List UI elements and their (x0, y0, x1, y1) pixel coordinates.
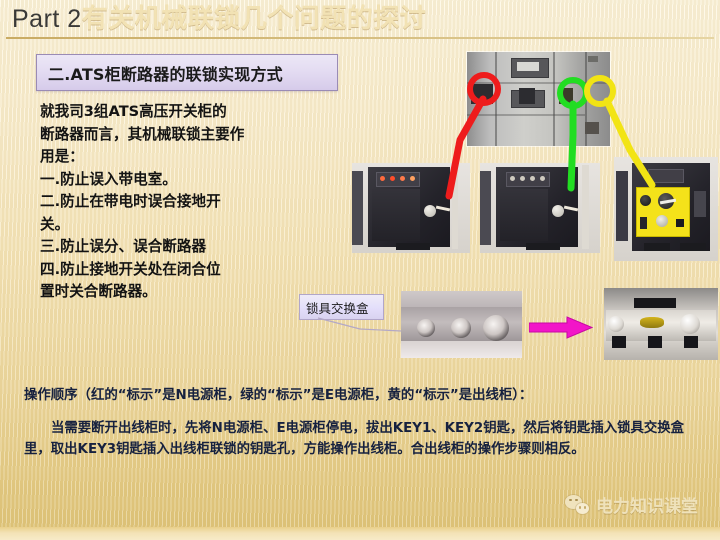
breaker-photo-n-supply (352, 163, 470, 253)
part-title-en: Part 2 (12, 5, 82, 33)
footer-brand: 电力知识课堂 (565, 492, 698, 516)
cabinet-seam-2 (553, 52, 555, 146)
lockbox-keyhole-2 (451, 318, 471, 338)
breaker3-keyhole (656, 215, 668, 227)
breaker2-led-4 (540, 176, 545, 181)
magenta-arrow-icon (529, 316, 593, 339)
lockbox-keyhole-3 (483, 315, 509, 341)
wechat-icon (565, 495, 589, 514)
panel3-lock-1 (608, 316, 624, 332)
cabinet-breaker-left (471, 84, 493, 104)
section-heading-box: 二.ATS柜断路器的联锁实现方式 (36, 54, 338, 91)
breaker1-nameplate (396, 243, 430, 250)
lock-exchange-box-label-text: 锁具交换盒 (306, 298, 369, 317)
body-item-1: 一.防止误入带电室。 (40, 169, 320, 192)
breaker2-key-lock (552, 205, 564, 217)
panel3-inserted-key (640, 317, 664, 328)
switchgear-cabinet-photo (467, 52, 610, 146)
cabinet-lower-tag (585, 122, 599, 134)
cabinet-top-tag (588, 56, 598, 62)
breaker3-marker (676, 219, 684, 227)
panel3-title-tag (634, 298, 676, 308)
body-item-2-line-1: 二.防止在带电时误合接地开 (40, 191, 320, 214)
breaker3-terminal (640, 217, 647, 229)
breaker2-led-2 (520, 176, 525, 181)
operation-notes: 操作顺序（红的“标示”是N电源柜，绿的“标示”是E电源柜，黄的“标示”是出线柜）… (24, 385, 696, 460)
lock-exchange-box-photo (401, 291, 522, 358)
part-title-cn: 有关机械联锁几个问题的探讨 (82, 4, 427, 34)
section-heading-text: 二.ATS柜断路器的联锁实现方式 (48, 61, 283, 85)
breaker2-frame-right (582, 165, 589, 249)
notes-line-1: 操作顺序（红的“标示”是N电源柜，绿的“标示”是E电源柜，黄的“标示”是出线柜）… (24, 385, 696, 406)
slide-canvas: Part 2有关机械联锁几个问题的探讨 二.ATS柜断路器的联锁实现方式 就我司… (0, 0, 720, 540)
page-title: Part 2有关机械联锁几个问题的探讨 (12, 2, 712, 36)
breaker3-indicator-strip (648, 169, 684, 183)
panel3-label-3 (684, 336, 698, 348)
breaker1-door (372, 189, 420, 241)
cabinet-hline-2 (467, 114, 585, 116)
breaker3-side-block (694, 191, 706, 217)
breaker1-led-4 (410, 176, 415, 181)
breaker-photo-outgoing-line (614, 157, 718, 261)
breaker2-led-3 (530, 176, 535, 181)
body-item-4-line-2: 置时关合断路器。 (40, 281, 320, 304)
cabinet-seam-1 (495, 52, 497, 146)
breaker2-nameplate (526, 243, 560, 250)
breaker2-led-1 (510, 176, 515, 181)
lock-exchange-box-label: 锁具交换盒 (299, 294, 384, 320)
breaker-photo-e-supply (480, 163, 600, 253)
body-paragraph-block: 就我司3组ATS高压开关柜的 断路器而言，其机械联锁主要作 用是： 一.防止误入… (40, 101, 320, 304)
body-line-1: 就我司3组ATS高压开关柜的 (40, 101, 320, 124)
panel3-label-2 (648, 336, 662, 348)
breaker1-led-3 (400, 176, 405, 181)
body-item-4-line-1: 四.防止接地开关处在闭合位 (40, 259, 320, 282)
notes-line-2: 当需要断开出线柜时，先将N电源柜、E电源柜停电，拔出KEY1、KEY2钥匙，然后… (24, 418, 696, 460)
breaker2-door (500, 189, 548, 241)
breaker1-led-1 (380, 176, 385, 181)
breaker2-frame-left (480, 171, 491, 245)
breaker1-frame-left (352, 171, 363, 245)
lockbox-keyhole-1 (417, 319, 435, 337)
body-item-3: 三.防止误分、误合断路器 (40, 236, 320, 259)
breaker3-frame-left (616, 171, 628, 241)
panel3-label-1 (612, 336, 626, 348)
panel3-lock-3 (680, 314, 700, 334)
body-line-2: 断路器而言，其机械联锁主要作 (40, 124, 320, 147)
title-divider (6, 37, 714, 39)
body-item-2-line-2: 关。 (40, 214, 320, 237)
cabinet-breaker-mid (519, 88, 535, 104)
body-line-3: 用是： (40, 146, 320, 169)
key-exchange-result-photo (604, 288, 718, 360)
cabinet-breaker-right (559, 88, 573, 104)
breaker3-nameplate-left (644, 243, 670, 251)
breaker1-frame-right (452, 165, 458, 249)
footer-band (0, 527, 720, 540)
breaker3-nameplate-right (680, 243, 706, 251)
breaker1-key-lock (424, 205, 436, 217)
footer-brand-name: 电力知识课堂 (596, 492, 698, 517)
breaker1-led-2 (390, 176, 395, 181)
breaker3-push-button (640, 195, 651, 206)
cabinet-plate-face (517, 62, 539, 71)
